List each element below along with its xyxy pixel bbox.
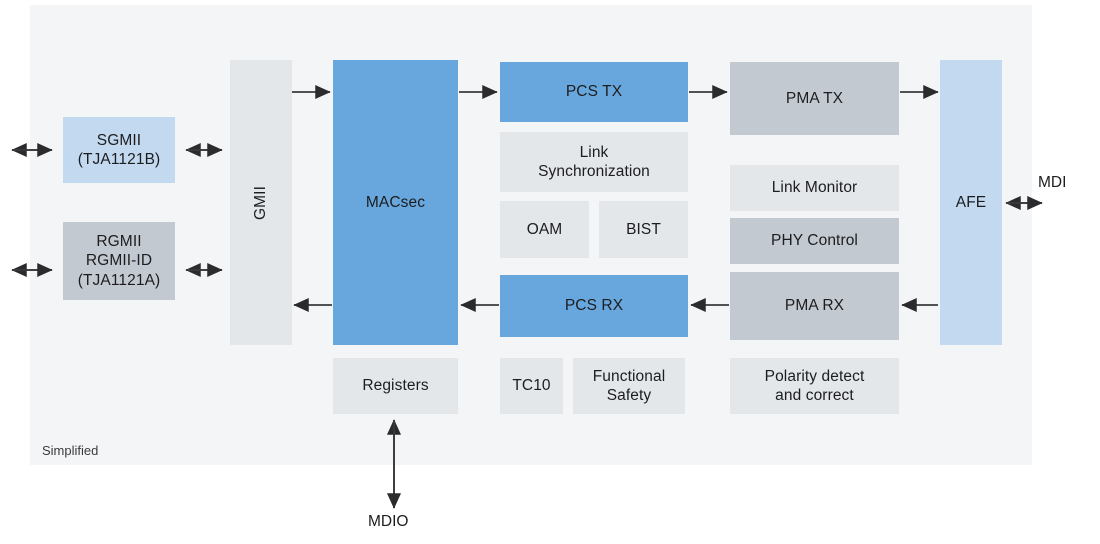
block-polarity-detect-and-correct[interactable]: Polarity detect and correct <box>730 358 899 414</box>
bist-label: BIST <box>626 220 661 239</box>
rgmii-label-line2: RGMII-ID <box>86 251 152 270</box>
phy-control-label: PHY Control <box>771 231 858 250</box>
block-diagram-canvas: SGMII (TJA1121B) RGMII RGMII-ID (TJA1121… <box>0 0 1100 544</box>
polarity-label-line2: and correct <box>775 386 854 405</box>
sgmii-label-line1: SGMII <box>97 131 141 150</box>
rgmii-label-line3: (TJA1121A) <box>78 271 161 290</box>
registers-label: Registers <box>362 376 428 395</box>
link-sync-label-line2: Synchronization <box>538 162 650 181</box>
functional-safety-label-line1: Functional <box>593 367 666 386</box>
polarity-label-line1: Polarity detect <box>765 367 865 386</box>
link-sync-label-line1: Link <box>580 143 609 162</box>
pcs-rx-label: PCS RX <box>565 296 623 315</box>
block-link-synchronization[interactable]: Link Synchronization <box>500 132 688 192</box>
block-pma-rx[interactable]: PMA RX <box>730 272 899 340</box>
block-registers[interactable]: Registers <box>333 358 458 414</box>
block-pcs-rx[interactable]: PCS RX <box>500 275 688 337</box>
link-monitor-label: Link Monitor <box>772 178 858 197</box>
tc10-label: TC10 <box>512 376 550 395</box>
rgmii-label-line1: RGMII <box>96 232 141 251</box>
block-afe[interactable]: AFE <box>940 60 1002 345</box>
pcs-tx-label: PCS TX <box>566 82 622 101</box>
block-functional-safety[interactable]: Functional Safety <box>573 358 685 414</box>
block-bist[interactable]: BIST <box>599 201 688 258</box>
sgmii-label-line2: (TJA1121B) <box>78 150 161 169</box>
block-phy-control[interactable]: PHY Control <box>730 218 899 264</box>
block-gmii[interactable]: GMII <box>230 60 292 345</box>
mdi-label: MDI <box>1038 174 1066 192</box>
gmii-label: GMII <box>251 186 270 220</box>
simplified-note: Simplified <box>42 443 98 458</box>
block-pcs-tx[interactable]: PCS TX <box>500 62 688 122</box>
block-macsec[interactable]: MACsec <box>333 60 458 345</box>
block-pma-tx[interactable]: PMA TX <box>730 62 899 135</box>
pma-rx-label: PMA RX <box>785 296 844 315</box>
block-oam[interactable]: OAM <box>500 201 589 258</box>
block-tc10[interactable]: TC10 <box>500 358 563 414</box>
pma-tx-label: PMA TX <box>786 89 843 108</box>
block-sgmii[interactable]: SGMII (TJA1121B) <box>63 117 175 183</box>
mdio-label: MDIO <box>368 513 408 531</box>
functional-safety-label-line2: Safety <box>607 386 652 405</box>
macsec-label: MACsec <box>366 193 425 212</box>
block-link-monitor[interactable]: Link Monitor <box>730 165 899 211</box>
afe-label: AFE <box>956 193 986 212</box>
oam-label: OAM <box>527 220 563 239</box>
block-rgmii[interactable]: RGMII RGMII-ID (TJA1121A) <box>63 222 175 300</box>
